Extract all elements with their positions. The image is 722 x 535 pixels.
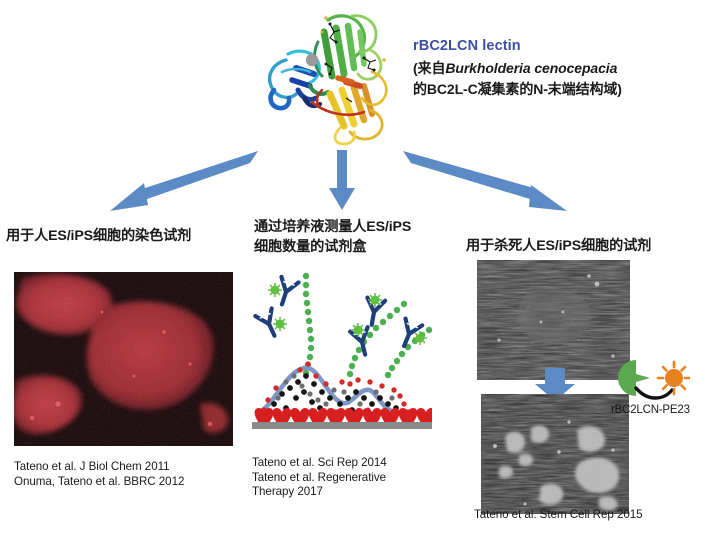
fluorescence-micrograph-red-stained-cells (14, 272, 233, 446)
arrow-down-left-icon (100, 145, 265, 220)
column-heading-staining: 用于人ES/iPS细胞的染色试剂 (6, 227, 254, 247)
protein-ribbon-structure-icon (252, 2, 407, 147)
citation-block-left: Tateno et al. J Biol Chem 2011 Onuma, Ta… (14, 460, 244, 489)
column-heading-quantification-line2: 细胞数量的试剂盒 (254, 238, 454, 258)
subtitle-prefix: (来自 (413, 60, 445, 76)
sandwich-lectin-assay-schematic (252, 272, 432, 448)
subtitle-line2: 的BC2L-C凝集素的N-末端结构域) (413, 81, 622, 97)
title-block: rBC2LCN lectin (来自Burkholderia cenocepac… (413, 36, 713, 99)
citation-block-right: Tateno et al. Stem Cell Rep 2015 (474, 508, 714, 523)
species-name: Burkholderia cenocepacia (445, 60, 617, 76)
page-subtitle: (来自Burkholderia cenocepacia 的BC2L-C凝集素的N… (413, 58, 713, 99)
citation-line: Onuma, Tateno et al. BBRC 2012 (14, 475, 244, 490)
arrow-down-right-icon (395, 145, 575, 220)
figure-root: rBC2LCN lectin (来自Burkholderia cenocepac… (0, 0, 722, 535)
page-title: rBC2LCN lectin (413, 36, 713, 56)
reagent-label: rBC2LCN-PE23 (611, 403, 721, 417)
citation-line: Tateno et al. Stem Cell Rep 2015 (474, 508, 714, 523)
citation-line: Therapy 2017 (252, 485, 432, 500)
lectin-toxin-conjugate-icon (614, 356, 690, 402)
phase-contrast-micrograph-before (477, 260, 630, 380)
citation-line: Tateno et al. J Biol Chem 2011 (14, 460, 244, 475)
column-heading-elimination: 用于杀死人ES/iPS细胞的试剂 (466, 237, 718, 257)
citation-line: Tateno et al. Sci Rep 2014 (252, 456, 432, 471)
arrow-down-icon (325, 150, 359, 217)
citation-block-middle: Tateno et al. Sci Rep 2014 Tateno et al.… (252, 456, 432, 500)
column-heading-elimination-line1: 用于杀死人ES/iPS细胞的试剂 (466, 237, 718, 257)
column-heading-quantification-line1: 通过培养液测量人ES/iPS (254, 218, 454, 238)
phase-contrast-micrograph-after (481, 394, 629, 514)
column-heading-quantification: 通过培养液测量人ES/iPS 细胞数量的试剂盒 (254, 218, 454, 257)
citation-line: Tateno et al. Regenerative (252, 471, 432, 486)
